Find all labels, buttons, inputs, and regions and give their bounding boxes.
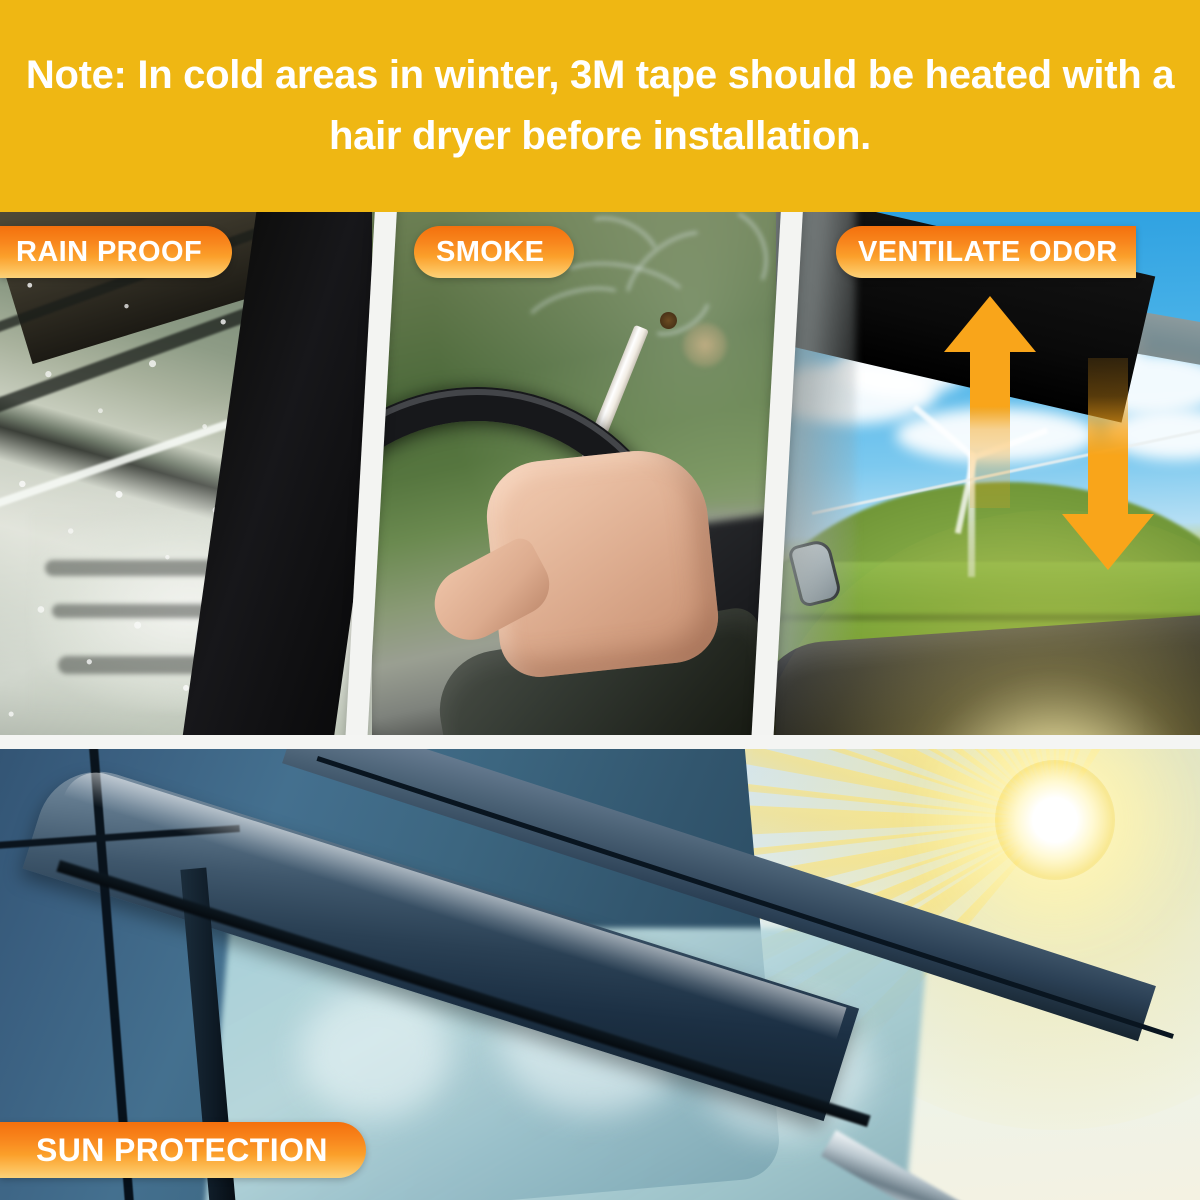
airflow-arrow-down-icon	[1062, 358, 1154, 570]
badge-sun-protection[interactable]: SUN PROTECTION	[0, 1122, 366, 1178]
sun-icon	[995, 760, 1115, 880]
note-text: Note: In cold areas in winter, 3M tape s…	[0, 45, 1200, 167]
badge-label: SUN PROTECTION	[36, 1132, 328, 1169]
badge-ventilate-odor[interactable]: VENTILATE ODOR	[836, 226, 1136, 278]
panel-rain-proof	[0, 212, 372, 735]
note-banner: Note: In cold areas in winter, 3M tape s…	[0, 0, 1200, 212]
badge-smoke[interactable]: SMOKE	[414, 226, 574, 278]
badge-label: RAIN PROOF	[16, 236, 202, 269]
airflow-arrow-up-icon	[944, 296, 1036, 508]
badge-rain-proof[interactable]: RAIN PROOF	[0, 226, 232, 278]
glass-reflection	[300, 988, 450, 1118]
row-separator	[0, 735, 1200, 749]
badge-label: VENTILATE ODOR	[858, 236, 1118, 269]
product-feature-graphic: Note: In cold areas in winter, 3M tape s…	[0, 0, 1200, 1200]
badge-label: SMOKE	[436, 236, 544, 269]
panel-smoke	[372, 212, 776, 735]
bokeh-light	[682, 322, 728, 368]
